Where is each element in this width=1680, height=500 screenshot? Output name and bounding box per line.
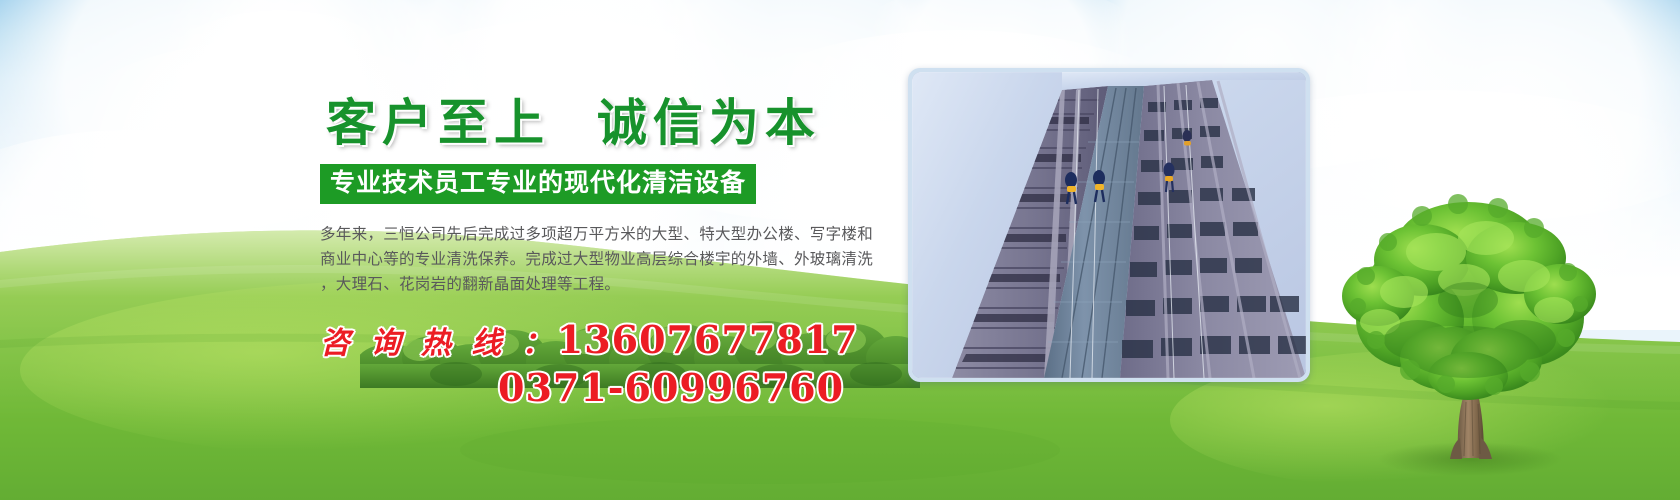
hotline-primary-row: 咨 询 热 线 ：13607677817 <box>320 319 900 362</box>
page-title: 客户至上 诚信为本 <box>326 96 900 150</box>
building-photo <box>912 72 1306 378</box>
hotline-landline-number[interactable]: 0371-60996760 <box>498 365 844 410</box>
description-line: 多年来，三恒公司先后完成过多项超万平方米的大型、特大型办公楼、写字楼和 <box>320 222 895 247</box>
building-photo-card <box>908 68 1310 382</box>
description-line: ，大理石、花岗岩的翻新晶面处理等工程。 <box>320 272 895 297</box>
hotline-secondary-row: 0371-60996760 <box>320 367 900 410</box>
text-content-column: 客户至上 诚信为本 专业技术员工专业的现代化清洁设备 多年来，三恒公司先后完成过… <box>320 96 900 410</box>
promo-banner: 客户至上 诚信为本 专业技术员工专业的现代化清洁设备 多年来，三恒公司先后完成过… <box>0 0 1680 500</box>
hotline-mobile-number[interactable]: 13607677817 <box>557 317 859 362</box>
cloud-shape <box>1250 0 1680 220</box>
description-line: 商业中心等的专业清洗保养。完成过大型物业高层综合楼宇的外墙、外玻璃清洗 <box>320 247 895 272</box>
company-description: 多年来，三恒公司先后完成过多项超万平方米的大型、特大型办公楼、写字楼和 商业中心… <box>320 222 895 297</box>
contact-hotline: 咨 询 热 线 ：13607677817 0371-60996760 <box>320 319 900 410</box>
hotline-label: 咨 询 热 线 ： <box>320 326 557 361</box>
tagline-banner: 专业技术员工专业的现代化清洁设备 <box>320 164 756 204</box>
